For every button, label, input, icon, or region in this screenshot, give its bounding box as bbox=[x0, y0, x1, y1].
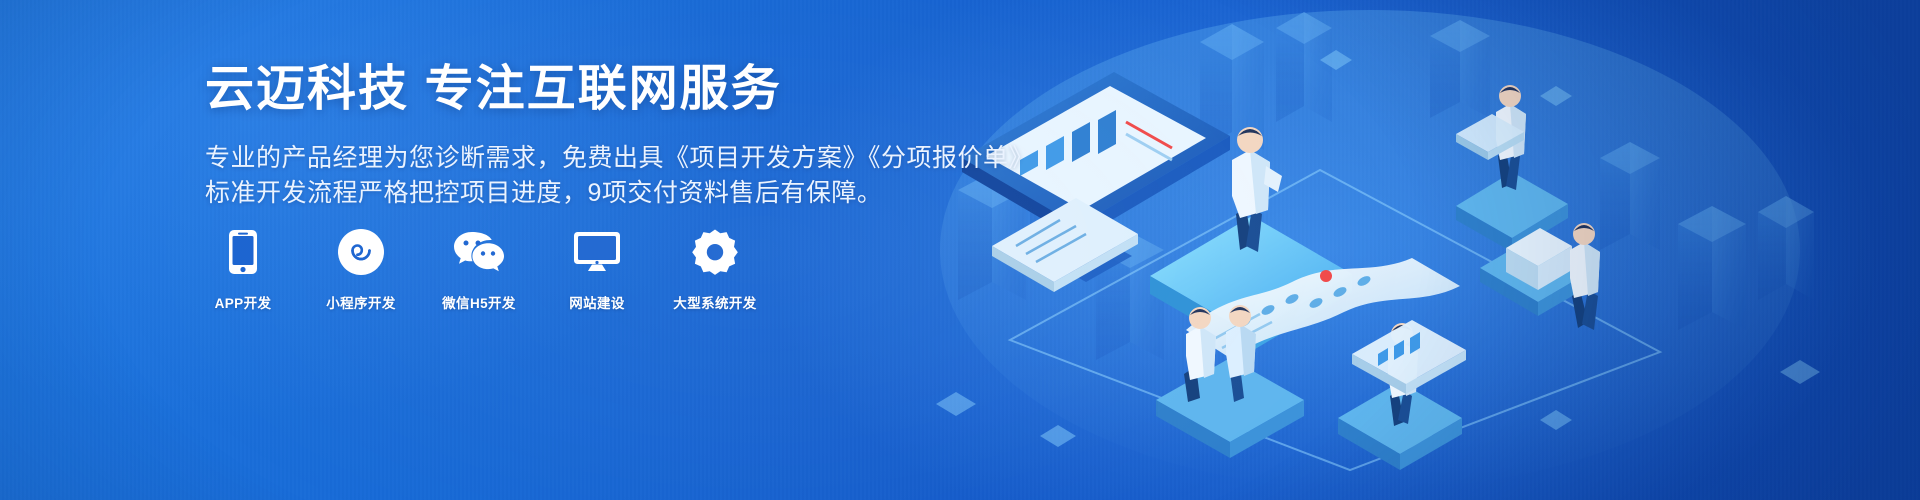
service-list: APP开发 小程序开发 bbox=[205, 228, 753, 312]
hero-copy: 云迈科技 专注互联网服务 专业的产品经理为您诊断需求，免费出具《项目开发方案》《… bbox=[205, 62, 945, 212]
service-label: APP开发 bbox=[215, 292, 272, 312]
service-label: 大型系统开发 bbox=[673, 292, 756, 312]
service-item-large-system[interactable]: 大型系统开发 bbox=[677, 228, 753, 312]
page-title: 云迈科技 专注互联网服务 bbox=[205, 62, 945, 117]
subtitle-line-1: 专业的产品经理为您诊断需求，免费出具《项目开发方案》《分项报价单》 bbox=[205, 141, 945, 177]
wechat-icon bbox=[453, 228, 505, 276]
service-item-website[interactable]: 网站建设 bbox=[559, 228, 635, 312]
illustration-isometric-data-platform bbox=[900, 0, 1920, 500]
hero-banner: 云迈科技 专注互联网服务 专业的产品经理为您诊断需求，免费出具《项目开发方案》《… bbox=[0, 0, 1920, 500]
service-label: 微信H5开发 bbox=[442, 292, 516, 312]
hero-subtitle: 专业的产品经理为您诊断需求，免费出具《项目开发方案》《分项报价单》 标准开发流程… bbox=[205, 141, 945, 212]
service-item-app[interactable]: APP开发 bbox=[205, 228, 281, 312]
mobile-phone-icon bbox=[228, 228, 258, 276]
service-item-wechat-h5[interactable]: 微信H5开发 bbox=[441, 228, 517, 312]
service-label: 小程序开发 bbox=[326, 292, 396, 312]
service-label: 网站建设 bbox=[569, 292, 625, 312]
subtitle-line-2: 标准开发流程严格把控项目进度，9项交付资料售后有保障。 bbox=[205, 176, 945, 212]
gear-icon bbox=[692, 228, 738, 276]
mini-program-icon bbox=[338, 228, 384, 276]
service-item-mini-program[interactable]: 小程序开发 bbox=[323, 228, 399, 312]
monitor-icon bbox=[573, 228, 621, 276]
